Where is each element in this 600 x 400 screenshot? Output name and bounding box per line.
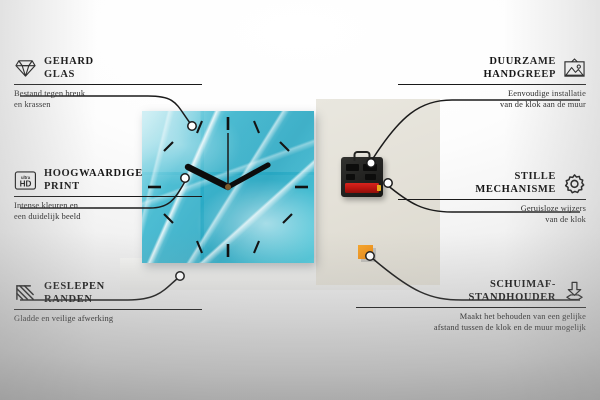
feature-desc-line2: en krassen — [14, 100, 202, 111]
feature-title-line2: HANDGREEP — [484, 68, 557, 81]
ultra-hd-main-label: HD — [20, 179, 32, 188]
feature-desc-line1: Gladde en veilige afwerking — [14, 314, 202, 325]
clock-dial — [142, 111, 314, 263]
aa-battery — [345, 183, 379, 193]
feature-geslepen-randen[interactable]: GESLEPEN RANDEN Gladde en veilige afwerk… — [14, 280, 202, 325]
feature-title-line2: RANDEN — [44, 293, 105, 306]
mechanism-slot — [363, 164, 377, 171]
wall-clock — [142, 111, 314, 263]
infographic-canvas: GEHARD GLAS Bestand tegen breuk en krass… — [0, 0, 600, 400]
product-photo — [120, 95, 440, 290]
feature-heading: STILLE MECHANISME — [398, 170, 586, 196]
diagonal-lines-icon — [14, 283, 37, 304]
mechanism-slot — [365, 174, 376, 180]
mechanism-slot — [346, 174, 355, 180]
ultra-hd-icon: ultra HD — [14, 170, 37, 191]
feature-heading: GEHARD GLAS — [14, 55, 202, 81]
feature-heading: GESLEPEN RANDEN — [14, 280, 202, 306]
feature-desc-line2: van de klok — [398, 215, 586, 226]
diamond-icon — [14, 58, 37, 79]
feature-title-line1: STILLE — [475, 170, 556, 183]
feature-duurzame-handgreep[interactable]: DUURZAME HANDGREEP Eenvoudige installati… — [398, 55, 586, 110]
feature-title-line1: GESLEPEN — [44, 280, 105, 293]
divider — [398, 84, 586, 85]
feature-title-line1: SCHUIMAF- — [469, 278, 557, 291]
feature-gehard-glas[interactable]: GEHARD GLAS Bestand tegen breuk en krass… — [14, 55, 202, 110]
feature-heading: DUURZAME HANDGREEP — [398, 55, 586, 81]
feature-title-line1: GEHARD — [44, 55, 94, 68]
divider — [14, 309, 202, 310]
feature-schuimaf-standhouder[interactable]: SCHUIMAF- STANDHOUDER Maakt het behouden… — [356, 278, 586, 333]
feature-desc-line1: Eenvoudige installatie — [398, 89, 586, 100]
feature-title-line2: STANDHOUDER — [469, 291, 557, 304]
feature-title-line1: HOOGWAARDIGE — [44, 167, 143, 180]
feature-desc-line1: Maakt het behouden van een gelijke — [356, 312, 586, 323]
feature-desc-line1: Geruisloze wijzers — [398, 204, 586, 215]
feature-title-line2: PRINT — [44, 180, 143, 193]
mechanism-hook — [354, 151, 371, 161]
divider — [14, 84, 202, 85]
feature-desc-line1: Bestand tegen breuk — [14, 89, 202, 100]
feature-stille-mechanisme[interactable]: STILLE MECHANISME Geruisloze wijzers van… — [398, 170, 586, 225]
gear-icon — [563, 173, 586, 194]
feature-title-line1: DUURZAME — [484, 55, 557, 68]
clock-mechanism-box — [341, 157, 383, 197]
divider — [356, 307, 586, 308]
framed-picture-icon — [563, 58, 586, 79]
arrow-down-to-surface-icon — [563, 281, 586, 302]
feature-desc-line2: afstand tussen de klok en de muur mogeli… — [356, 323, 586, 334]
feature-title-line2: MECHANISME — [475, 183, 556, 196]
foam-spacer-pad — [358, 245, 373, 259]
feature-title-line2: GLAS — [44, 68, 94, 81]
mechanism-slot — [346, 164, 359, 171]
feature-desc-line2: van de klok aan de muur — [398, 100, 586, 111]
divider — [398, 199, 586, 200]
feature-heading: SCHUIMAF- STANDHOUDER — [356, 278, 586, 304]
